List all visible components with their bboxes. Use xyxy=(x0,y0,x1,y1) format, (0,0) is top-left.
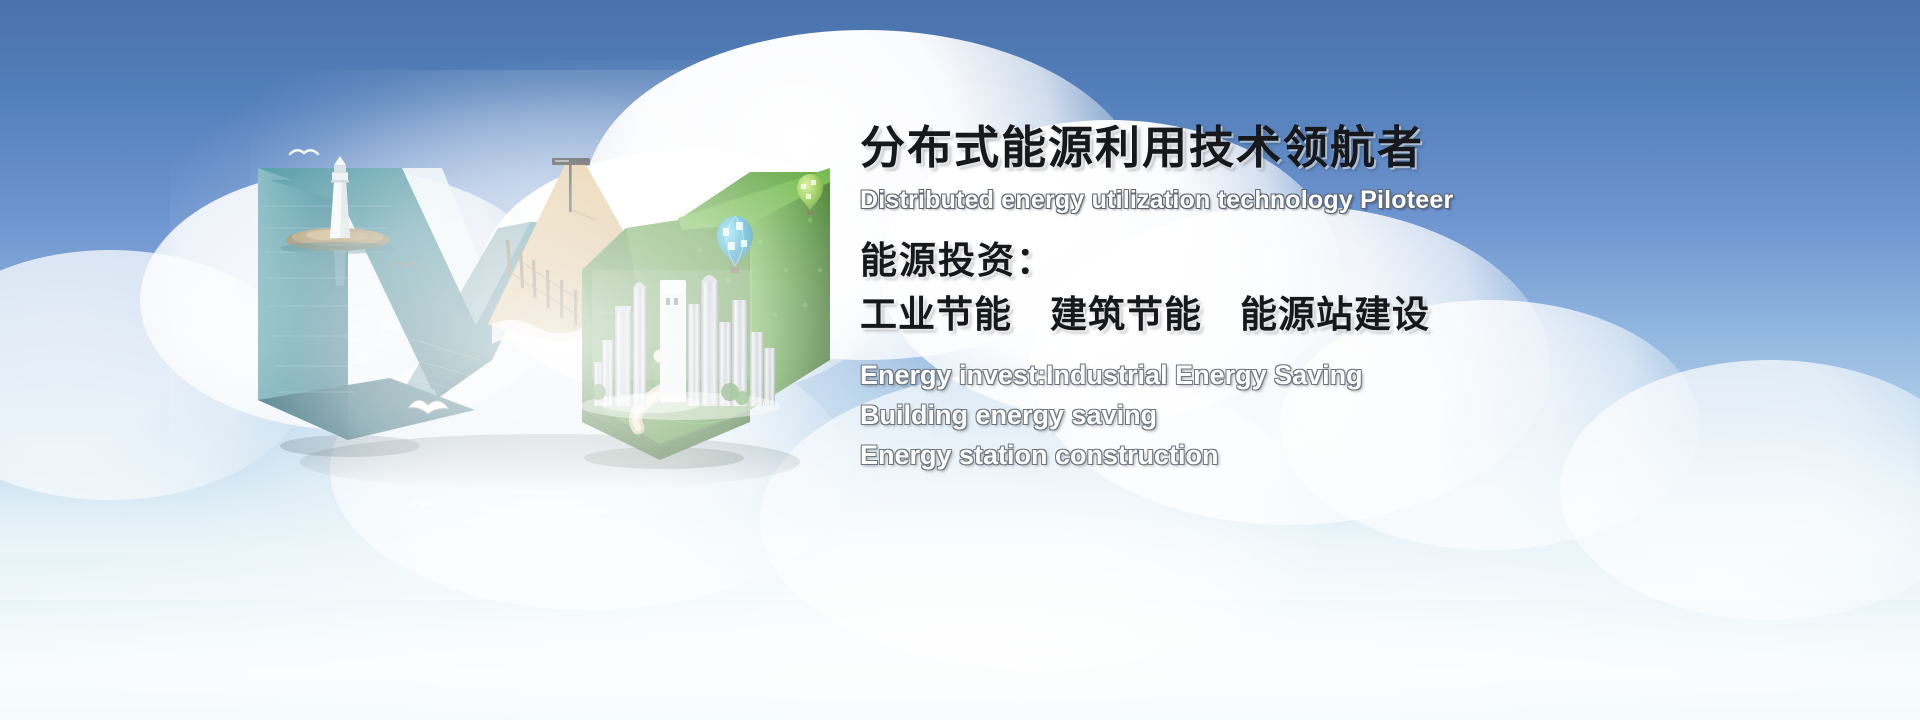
w-landscape-artwork xyxy=(230,110,870,510)
banner-copy: 分布式能源利用技术领航者 Distributed energy utilizat… xyxy=(860,124,1860,476)
service-english-2: Building energy saving xyxy=(860,396,1860,436)
services-chinese: 工业节能 建筑节能 能源站建设 xyxy=(860,295,1860,336)
bottom-haze xyxy=(0,520,1920,720)
headline-english: Distributed energy utilization technolog… xyxy=(860,185,1860,215)
headline-chinese: 分布式能源利用技术领航者 xyxy=(860,124,1860,172)
section-label-chinese: 能源投资： xyxy=(860,241,1860,282)
seagull xyxy=(408,503,436,509)
service-english-1: Energy invest:Industrial Energy Saving xyxy=(860,356,1860,396)
seagull xyxy=(290,150,318,154)
service-english-3: Energy station construction xyxy=(860,436,1860,476)
hero-banner: 分布式能源利用技术领航者 Distributed energy utilizat… xyxy=(0,0,1920,720)
cloud-band-bottom xyxy=(0,560,1920,720)
services-english-list: Energy invest:Industrial Energy Saving B… xyxy=(860,356,1860,476)
city-skyline xyxy=(580,270,780,420)
